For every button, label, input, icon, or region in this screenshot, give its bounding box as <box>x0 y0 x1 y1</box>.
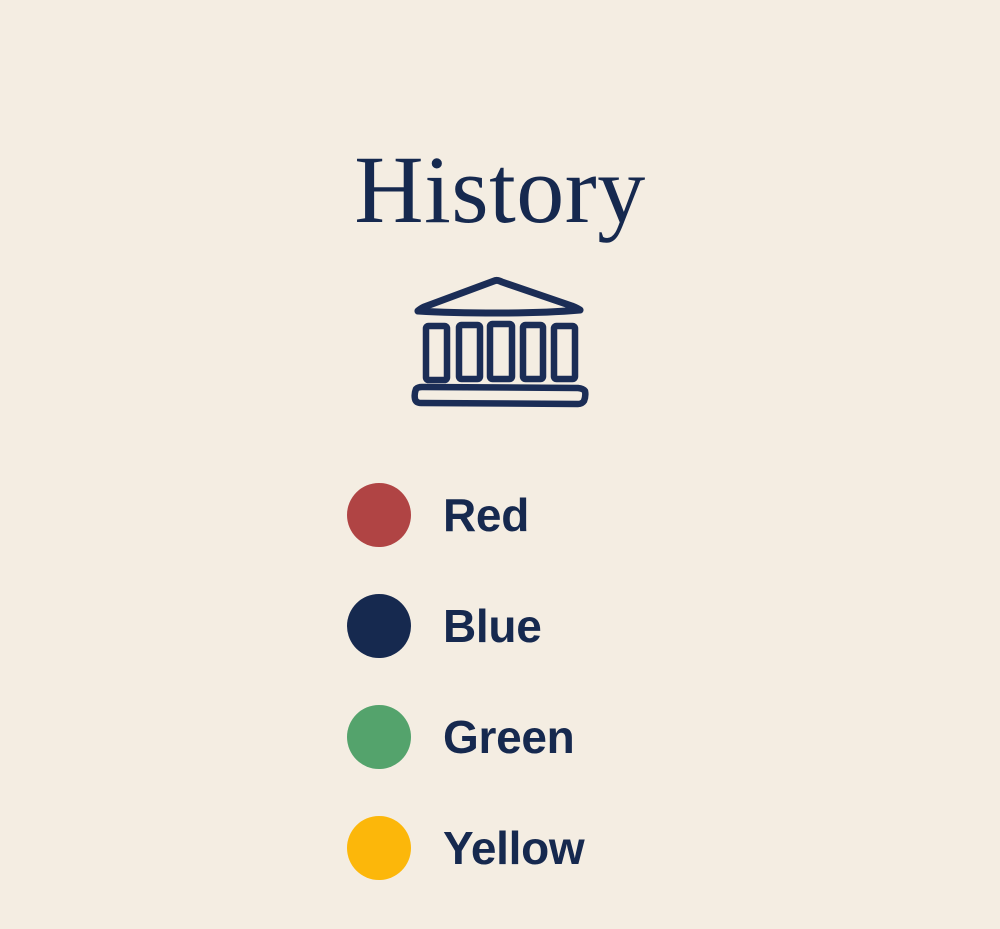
color-swatch-blue <box>347 594 411 658</box>
answer-option-label-yellow: Yellow <box>443 825 584 871</box>
color-swatch-yellow <box>347 816 411 880</box>
topic-icon-container <box>0 265 1000 410</box>
color-swatch-red <box>347 483 411 547</box>
answer-option-blue[interactable]: Blue <box>347 581 907 671</box>
answer-option-yellow[interactable]: Yellow <box>347 803 907 893</box>
answer-options-list: Red Blue Green Yellow <box>347 470 907 893</box>
answer-option-green[interactable]: Green <box>347 692 907 782</box>
answer-option-label-green: Green <box>443 714 574 760</box>
classical-building-icon <box>410 268 590 408</box>
color-swatch-green <box>347 705 411 769</box>
page-title: History <box>0 142 1000 238</box>
answer-option-label-blue: Blue <box>443 603 541 649</box>
answer-option-red[interactable]: Red <box>347 470 907 560</box>
quiz-category-screen: History Red Blue <box>0 0 1000 929</box>
answer-option-label-red: Red <box>443 492 529 538</box>
